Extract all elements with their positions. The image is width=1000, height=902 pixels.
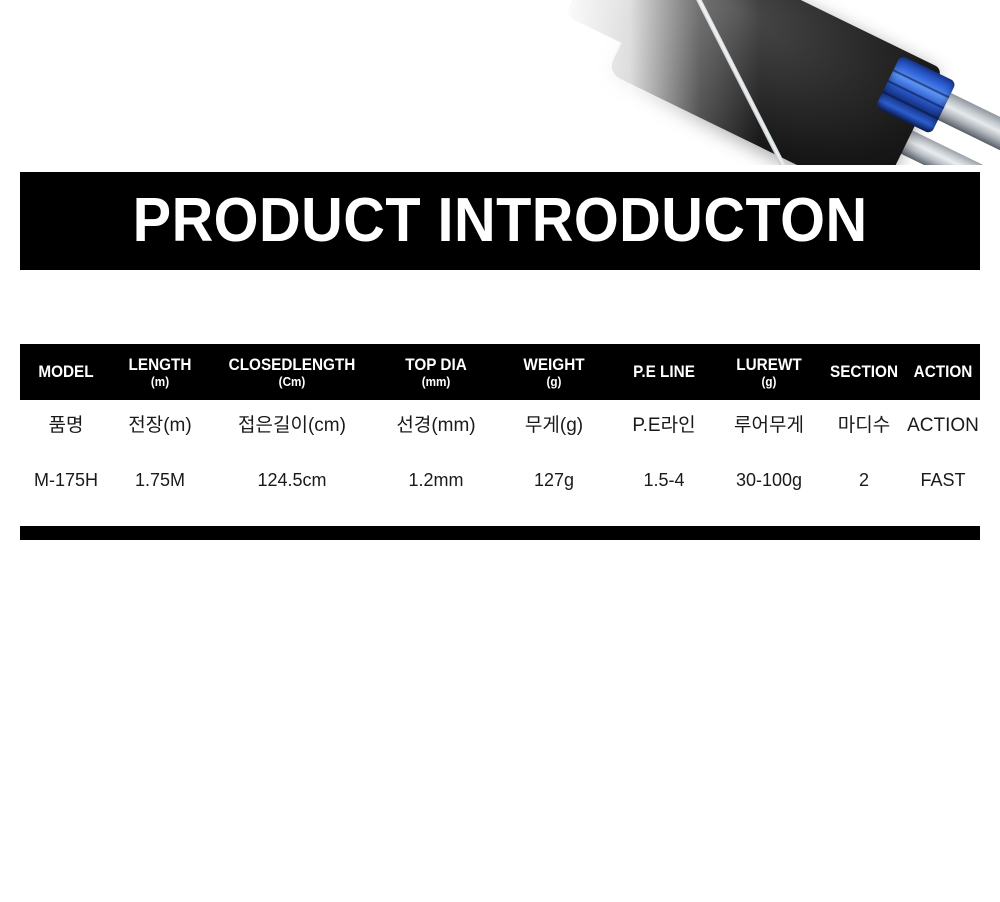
cell-value-pe-line: 1.5-4 — [612, 471, 716, 490]
table-row-korean-labels: 품명 전장(m) 접은길이(cm) 선경(mm) 무게(g) P.E라인 루어무… — [20, 400, 980, 452]
cell-kr-closed-length: 접은길이(cm) — [208, 416, 376, 436]
cell-value-lure-wt: 30-100g — [716, 471, 822, 490]
cell-kr-length: 전장(m) — [112, 416, 208, 436]
cell-kr-section: 마디수 — [822, 416, 906, 436]
product-introduction-page: PRODUCT INTRODUCTON MODEL LENGTH (m) CLO… — [0, 0, 1000, 902]
product-introduction-banner: PRODUCT INTRODUCTON — [20, 172, 980, 270]
cell-kr-top-dia: 선경(mm) — [376, 416, 496, 436]
header-lure-wt: LUREWT (g) — [721, 356, 816, 388]
header-top-dia: TOP DIA (mm) — [382, 356, 490, 388]
header-closed-length: CLOSEDLENGTH (Cm) — [216, 356, 367, 388]
cell-kr-action: ACTION — [906, 416, 980, 436]
header-model: MODEL — [25, 363, 108, 382]
cell-value-action: FAST — [906, 471, 980, 490]
cell-value-closed-length: 124.5cm — [208, 471, 376, 490]
cell-value-weight: 127g — [496, 471, 612, 490]
cell-kr-lure-wt: 루어무게 — [716, 416, 822, 436]
rod-dimension-diagram: TITANIUM TIP 15CM 124.5cm — [0, 540, 1000, 902]
table-row-values: M-175H 1.75M 124.5cm 1.2mm 127g 1.5-4 30… — [20, 452, 980, 508]
header-action: ACTION — [910, 363, 977, 382]
cell-kr-weight: 무게(g) — [496, 416, 612, 436]
header-weight: WEIGHT (g) — [502, 356, 606, 388]
cell-value-section: 2 — [822, 471, 906, 490]
rod-handle-photo — [0, 0, 1000, 165]
cell-value-model: M-175H — [20, 471, 112, 490]
cell-kr-model: 품명 — [20, 416, 112, 436]
header-length: LENGTH (m) — [117, 356, 203, 388]
table-header-row-english: MODEL LENGTH (m) CLOSEDLENGTH (Cm) TOP D… — [20, 344, 980, 400]
table-bottom-bar — [20, 526, 980, 540]
header-pe-line: P.E LINE — [617, 363, 711, 382]
header-section: SECTION — [826, 363, 902, 382]
cell-value-top-dia: 1.2mm — [376, 471, 496, 490]
cell-value-length: 1.75M — [112, 471, 208, 490]
cell-kr-pe-line: P.E라인 — [612, 416, 716, 436]
page-title: PRODUCT INTRODUCTON — [133, 190, 868, 252]
specification-table: MODEL LENGTH (m) CLOSEDLENGTH (Cm) TOP D… — [20, 344, 980, 540]
